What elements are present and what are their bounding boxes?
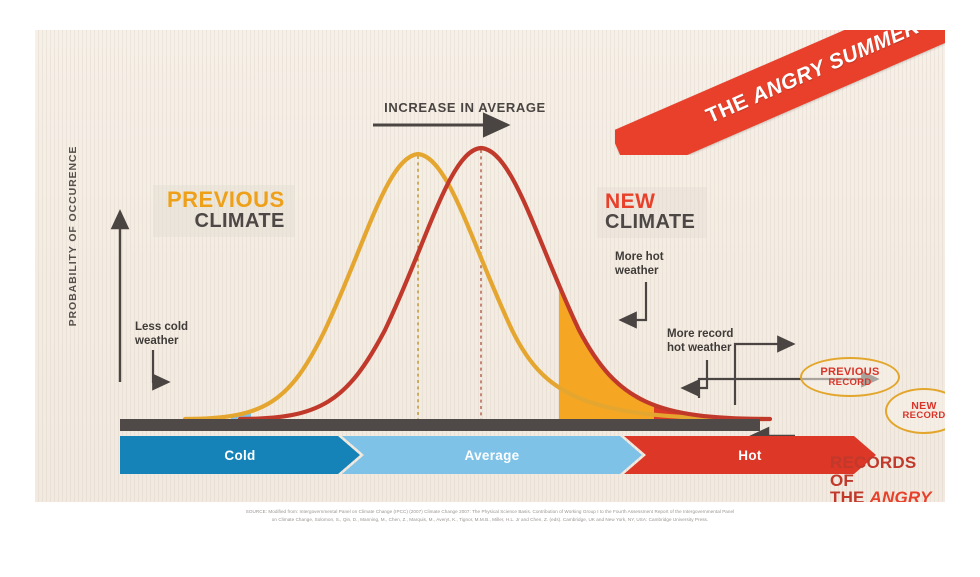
y-axis-label: PROBABILITY OF OCCURENCE [67,136,79,336]
less-cold-arrow [153,350,168,382]
more-record-line1: More record [667,327,733,341]
less-cold-line1: Less cold [135,320,188,334]
new-climate-label: NEW CLIMATE [597,187,707,238]
records-line2-plain: THE [830,488,870,502]
more-hot-weather-arrow [621,282,646,320]
source-line-2: on Climate Change, Solomon, S., Qin, D.,… [35,516,945,524]
previous-record-badge: PREVIOUS RECORD [800,357,900,397]
more-hot-weather-callout: More hot weather [615,250,664,278]
records-line2: THE ANGRY [830,489,945,502]
new-climate-line1: NEW [605,191,695,212]
temperature-scale-legend: Cold Average Hot [120,436,780,474]
records-line2-emphasis: ANGRY [870,488,932,502]
temperature-axis-bar [120,419,760,431]
previous-record-line1: PREVIOUS [820,367,879,378]
previous-climate-line2: CLIMATE [167,211,285,232]
increase-in-average-annotation: INCREASE IN AVERAGE [370,100,560,115]
new-climate-line2: CLIMATE [605,212,695,233]
more-record-hot-weather-callout: More record hot weather [667,327,733,355]
scale-label-hot: Hot [738,448,761,463]
source-citation: SOURCE: Modified from: Intergovernmental… [35,508,945,525]
previous-climate-label: PREVIOUS CLIMATE [153,185,295,237]
infographic-panel: PROBABILITY OF OCCURENCE INCREASE IN AVE… [35,30,945,502]
new-record-line2: RECORD [903,411,945,421]
more-hot-line1: More hot [615,250,664,264]
less-cold-weather-callout: Less cold weather [135,320,188,348]
less-cold-line2: weather [135,334,188,348]
records-of-angry-summer-title: RECORDS OF THE ANGRY SUMMER [830,454,945,502]
increase-in-average-label: INCREASE IN AVERAGE [370,100,560,115]
scale-segment-cold: Cold [120,436,360,474]
more-record-line2: hot weather [667,341,733,355]
more-record-hot-arrow [683,360,707,388]
scale-segment-average: Average [342,436,642,474]
records-line1: RECORDS OF [830,454,945,489]
scale-label-cold: Cold [224,448,255,463]
more-hot-line2: weather [615,264,664,278]
source-line-1: SOURCE: Modified from: Intergovernmental… [35,508,945,516]
previous-record-line2: RECORD [829,378,872,388]
scale-label-average: Average [465,448,520,463]
previous-climate-line1: PREVIOUS [167,189,285,211]
previous-record-connector [735,344,793,405]
